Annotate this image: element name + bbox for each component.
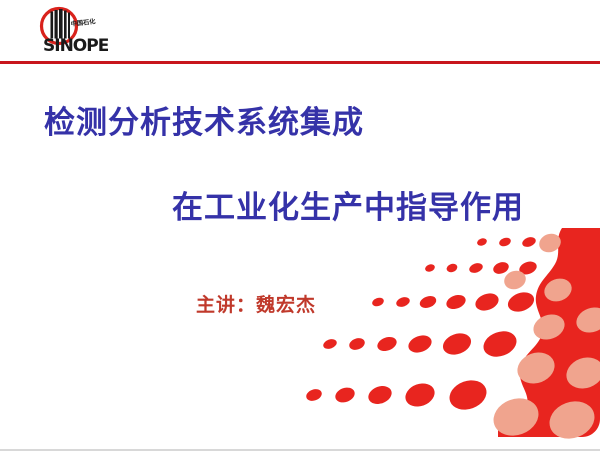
presentation-slide: 中国石化 SINOPEC 检测分析技术系统集成 在工业化生产中指导作用 主讲：魏…: [0, 0, 600, 451]
svg-text:SINOPEC: SINOPEC: [43, 36, 108, 56]
red-dot-r2-c2: [418, 294, 438, 310]
red-dot-r4-c0: [305, 387, 324, 403]
red-dot-r3-c2: [375, 334, 398, 353]
salmon-dot-group: [488, 231, 600, 443]
slide-title-line-2: 在工业化生产中指导作用: [172, 191, 524, 225]
red-dot-r1-c3: [492, 260, 511, 276]
red-dot-r3-c0: [322, 337, 338, 350]
red-dot-r2-c0: [371, 296, 385, 308]
red-dot-r3-c5: [480, 327, 520, 361]
header-divider-rule: [0, 61, 600, 64]
red-dot-r2-c4: [473, 290, 501, 313]
salmon-dot-3: [530, 310, 568, 343]
salmon-dot-8: [544, 395, 600, 443]
salmon-dot-7: [488, 392, 544, 442]
red-dot-r1-c4: [517, 259, 538, 276]
red-dot-r1-c2: [468, 261, 484, 274]
salmon-dot-2: [541, 275, 575, 305]
red-dot-r2-c1: [395, 295, 411, 308]
decor-svg: [300, 228, 600, 443]
sinopec-logo: 中国石化 SINOPEC: [26, 6, 108, 56]
red-dot-r2-c5: [505, 289, 537, 315]
red-dot-r3-c1: [348, 336, 367, 352]
red-dot-r1-c0: [424, 263, 436, 273]
red-dot-r2-c3: [444, 292, 467, 311]
salmon-dot-0: [537, 231, 564, 255]
slide-title-line-1: 检测分析技术系统集成: [44, 106, 364, 140]
red-dot-r4-c4: [445, 375, 490, 414]
red-dot-r4-c3: [402, 380, 438, 411]
red-wedge-shape: [498, 228, 600, 437]
presenter-label: 主讲：魏宏杰: [196, 290, 316, 317]
salmon-dot-1: [502, 268, 529, 292]
salmon-dot-5: [513, 347, 559, 388]
salmon-dot-4: [573, 303, 600, 336]
salmon-dot-6: [562, 352, 600, 393]
red-dot-r1-c1: [445, 262, 458, 273]
red-dot-r0-c2: [521, 235, 537, 248]
red-dot-r4-c1: [333, 385, 357, 405]
red-dot-r0-c1: [498, 236, 512, 248]
red-dot-r3-c3: [406, 332, 434, 355]
red-dot-row-group: [305, 235, 539, 414]
halftone-dot-corner-graphic: [300, 228, 600, 443]
red-dot-r0-c0: [476, 237, 488, 247]
red-dot-r4-c2: [366, 383, 394, 407]
red-dot-r3-c4: [440, 330, 474, 359]
